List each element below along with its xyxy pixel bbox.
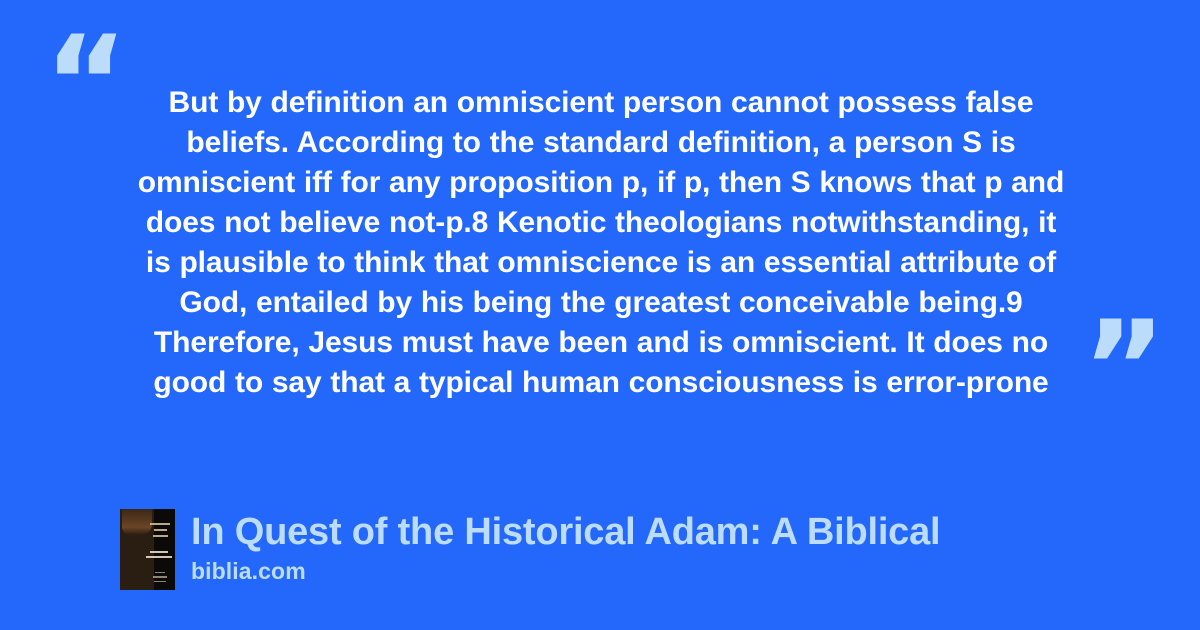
book-cover-title-lines	[145, 551, 173, 558]
book-cover-subtitle-lines	[149, 572, 171, 583]
quote-line: omniscient iff for any proposition p, if…	[118, 163, 1084, 203]
attribution-text: In Quest of the Historical Adam: A Bibli…	[191, 509, 940, 585]
closing-quote-icon: ”	[1082, 305, 1166, 433]
quote-line: good to say that a typical human conscio…	[118, 363, 1084, 403]
quote-line: beliefs. According to the standard defin…	[118, 123, 1084, 163]
quote-line: But by definition an omniscient person c…	[118, 83, 1084, 123]
quote-card: “ But by definition an omniscient person…	[0, 0, 1200, 630]
quote-line: Therefore, Jesus must have been and is o…	[118, 323, 1084, 363]
book-cover-thumbnail	[120, 509, 175, 590]
book-title: In Quest of the Historical Adam: A Bibli…	[191, 509, 940, 555]
attribution: In Quest of the Historical Adam: A Bibli…	[120, 509, 940, 590]
book-cover-author-lines	[148, 523, 172, 537]
quote-line: does not believe not-p.8 Kenotic theolog…	[118, 203, 1084, 243]
opening-quote-icon: “	[44, 20, 128, 148]
quote-body: But by definition an omniscient person c…	[118, 83, 1084, 403]
quote-line: God, entailed by his being the greatest …	[118, 283, 1084, 323]
site-name: biblia.com	[191, 557, 940, 585]
quote-line: is plausible to think that omniscience i…	[118, 243, 1084, 283]
